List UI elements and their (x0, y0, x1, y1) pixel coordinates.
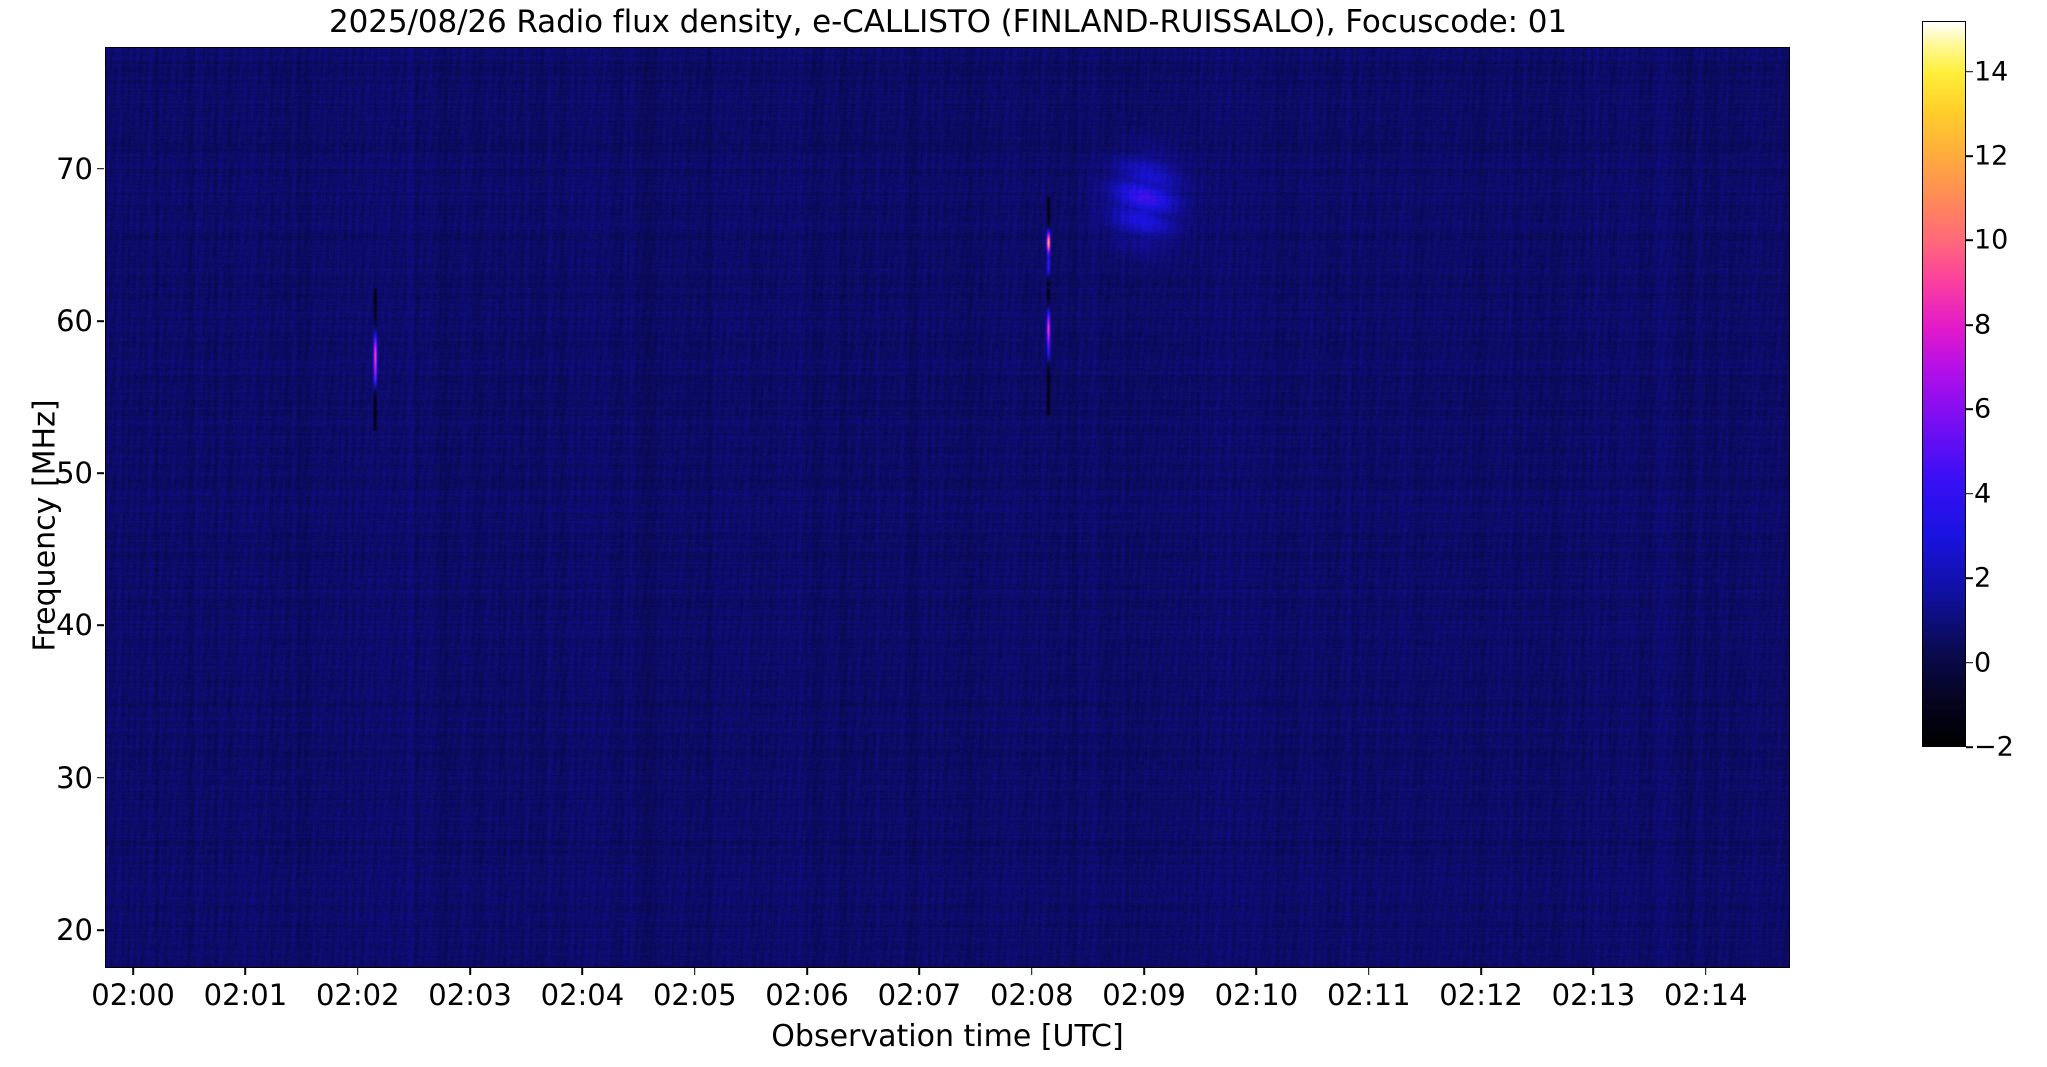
colorbar-tick-mark (1966, 409, 1973, 411)
y-axis-tick-mark (97, 929, 104, 931)
y-axis-tick-mark (97, 320, 104, 322)
y-axis-tick-label: 70 (0, 152, 93, 186)
x-axis-tick-mark (132, 968, 134, 975)
x-axis-tick-label: 02:13 (1552, 978, 1636, 1012)
colorbar-tick-label: 10 (1974, 225, 2008, 256)
colorbar-tick-label: 12 (1974, 141, 2008, 172)
colorbar-tick-mark (1966, 662, 1973, 664)
x-axis-tick-mark (1256, 968, 1258, 975)
colorbar-tick-mark (1966, 71, 1973, 73)
colorbar-tick-label: 14 (1974, 56, 2008, 87)
x-axis-tick-mark (694, 968, 696, 975)
x-axis-tick-label: 02:08 (990, 978, 1074, 1012)
colorbar-tick-label: −2 (1974, 732, 2014, 763)
x-axis-tick-label: 02:11 (1327, 978, 1411, 1012)
x-axis-tick-label: 02:05 (653, 978, 737, 1012)
colorbar-tick-mark (1966, 324, 1973, 326)
y-axis-label: Frequency [MHz] (28, 226, 63, 826)
x-axis-tick-label: 02:04 (541, 978, 625, 1012)
x-axis-tick-mark (1143, 968, 1145, 975)
x-axis-tick-mark (245, 968, 247, 975)
colorbar-tick-mark (1966, 155, 1973, 157)
x-axis-tick-mark (469, 968, 471, 975)
page-title: 2025/08/26 Radio flux density, e-CALLIST… (105, 4, 1791, 40)
colorbar-tick-label: 2 (1974, 563, 1991, 594)
y-axis-tick-mark (97, 777, 104, 779)
x-axis-tick-label: 02:01 (204, 978, 288, 1012)
x-axis-tick-label: 02:07 (878, 978, 962, 1012)
x-axis-tick-label: 02:03 (428, 978, 512, 1012)
x-axis-tick-mark (1368, 968, 1370, 975)
y-axis-tick-mark (97, 625, 104, 627)
x-axis-tick-mark (919, 968, 921, 975)
x-axis-tick-label: 02:10 (1215, 978, 1299, 1012)
x-axis-label: Observation time [UTC] (105, 1019, 1790, 1054)
x-axis-tick-mark (1705, 968, 1707, 975)
colorbar-tick-mark (1966, 240, 1973, 242)
spectrogram-heatmap (106, 48, 1789, 967)
colorbar-tick-label: 8 (1974, 309, 1991, 340)
x-axis-tick-mark (357, 968, 359, 975)
x-axis-tick-label: 02:00 (91, 978, 175, 1012)
spectrogram-axes (105, 47, 1790, 968)
colorbar-tick-mark (1966, 493, 1973, 495)
colorbar-tick-label: 0 (1974, 647, 1991, 678)
colorbar-tick-label: 4 (1974, 478, 1991, 509)
colorbar-tick-mark (1966, 577, 1973, 579)
colorbar-tick-mark (1966, 746, 1973, 748)
x-axis-tick-label: 02:06 (765, 978, 849, 1012)
x-axis-tick-label: 02:14 (1664, 978, 1748, 1012)
spectrogram-figure: 2025/08/26 Radio flux density, e-CALLIST… (0, 0, 2047, 1067)
x-axis-tick-mark (1593, 968, 1595, 975)
colorbar-tick-label: 6 (1974, 394, 1991, 425)
colorbar-gradient (1922, 21, 1966, 747)
x-axis-tick-label: 02:12 (1439, 978, 1523, 1012)
x-axis-tick-label: 02:09 (1102, 978, 1186, 1012)
x-axis-tick-mark (582, 968, 584, 975)
x-axis-tick-label: 02:02 (316, 978, 400, 1012)
y-axis-tick-label: 20 (0, 913, 93, 947)
y-axis-tick-mark (97, 168, 104, 170)
x-axis-tick-mark (1480, 968, 1482, 975)
colorbar: −202468101214 (1922, 21, 1966, 747)
y-axis-tick-mark (97, 472, 104, 474)
x-axis-tick-mark (1031, 968, 1033, 975)
x-axis-tick-mark (806, 968, 808, 975)
